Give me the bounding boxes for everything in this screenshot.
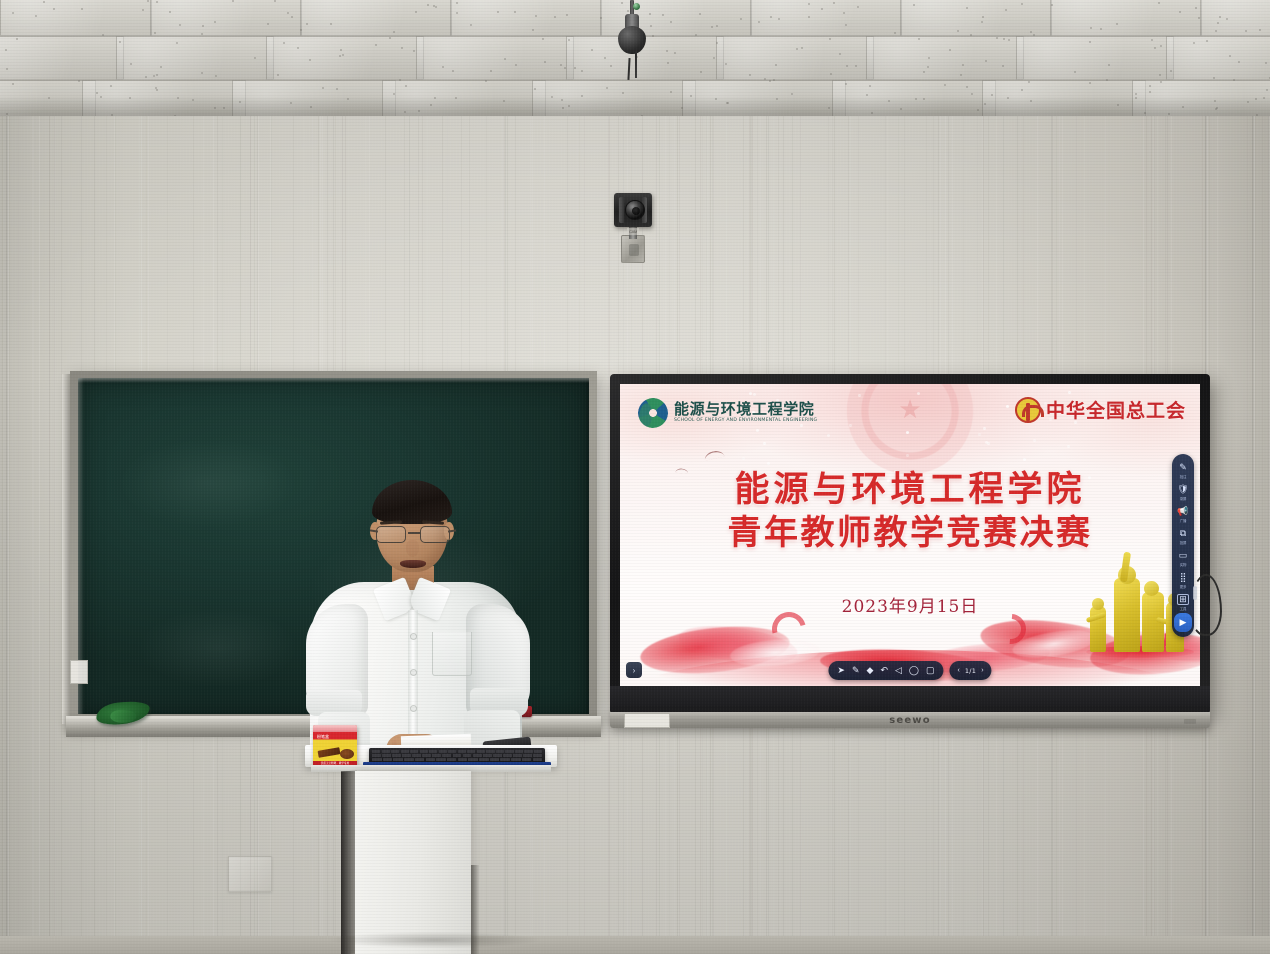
keyboard-key[interactable] bbox=[372, 754, 381, 757]
megaphone-icon: 📢 bbox=[1178, 506, 1189, 517]
ceiling-texture-speck bbox=[1266, 89, 1268, 91]
ceiling-texture-speck bbox=[300, 29, 302, 31]
ceiling-texture-speck bbox=[568, 39, 570, 41]
ceiling-texture-speck bbox=[339, 55, 341, 57]
watermark-speck bbox=[917, 392, 920, 395]
wall-grain-line bbox=[9, 116, 10, 954]
keyboard-key[interactable] bbox=[392, 754, 401, 757]
keyboard-key[interactable] bbox=[468, 758, 478, 761]
ceiling-texture-speck bbox=[1005, 9, 1007, 11]
keyboard-key[interactable] bbox=[503, 754, 512, 757]
slide-title-line-2: 青年教师教学竞赛决赛 bbox=[620, 514, 1200, 553]
ceiling-texture-speck bbox=[232, 0, 234, 2]
ceiling-texture-speck bbox=[214, 21, 216, 23]
ceiling-tile bbox=[1166, 36, 1270, 80]
ceiling-texture-speck bbox=[1170, 70, 1172, 72]
ceiling-texture-speck bbox=[504, 58, 506, 60]
redo-icon[interactable]: ◁ bbox=[895, 666, 902, 675]
wall-grain-line bbox=[4, 116, 5, 954]
ceiling-texture-speck bbox=[179, 24, 181, 26]
watermark-speck bbox=[767, 462, 770, 465]
display-indicator-light bbox=[1184, 719, 1196, 724]
wall-surveillance-camera: CAM bbox=[610, 193, 656, 265]
keyboard-key[interactable] bbox=[505, 750, 513, 753]
side-toolbar-item-label: 批注 bbox=[1180, 474, 1186, 479]
ceiling-texture-speck bbox=[375, 44, 377, 46]
keyboard-key[interactable] bbox=[458, 758, 468, 761]
ceiling-tile bbox=[150, 0, 302, 36]
pen-tool-icon: ✎ bbox=[1178, 462, 1189, 473]
keyboard-key[interactable] bbox=[486, 750, 494, 753]
wall-grain-line bbox=[1268, 116, 1269, 954]
acftu-emblem-icon bbox=[1015, 397, 1041, 423]
ceiling-texture-speck bbox=[35, 15, 37, 17]
keyboard-key[interactable] bbox=[483, 754, 492, 757]
ceiling-texture-speck bbox=[1151, 39, 1153, 41]
ceiling-texture-speck bbox=[591, 49, 593, 51]
expand-panel-button[interactable]: › bbox=[626, 662, 642, 678]
cloud-shape-icon[interactable]: ▢ bbox=[926, 666, 935, 675]
camera-label: CAM bbox=[627, 228, 639, 235]
ceiling-texture-speck bbox=[309, 59, 311, 61]
ceiling-texture-speck bbox=[156, 1, 158, 3]
toolbox-icon: ⊞ bbox=[1177, 594, 1189, 605]
keyboard-key[interactable] bbox=[533, 758, 543, 761]
interactive-smart-display[interactable]: ★ 能源与环境工程学院 SCHOOL OF ENERGY AND ENVIRON… bbox=[610, 374, 1210, 714]
ceiling-texture-speck bbox=[1265, 62, 1267, 64]
wall-grain-line bbox=[39, 116, 40, 954]
floor-edge bbox=[0, 936, 1270, 954]
shield-icon: 🛡 bbox=[1178, 484, 1189, 495]
keyboard-key[interactable] bbox=[534, 750, 542, 753]
ceiling-tile bbox=[416, 36, 574, 80]
side-toolbar-item-apps-grid[interactable]: ⣿更多 bbox=[1173, 569, 1193, 591]
watermark-speck bbox=[756, 429, 759, 432]
keyboard-key[interactable] bbox=[412, 754, 421, 757]
keyboard-key[interactable] bbox=[453, 754, 462, 757]
watermark-speck bbox=[1033, 439, 1036, 442]
keyboard-key[interactable] bbox=[447, 758, 457, 761]
circle-shape-icon[interactable]: ◯ bbox=[909, 666, 919, 675]
side-toolbar-item-shield[interactable]: 🛡录屏 bbox=[1173, 481, 1193, 503]
ceiling-texture-speck bbox=[758, 21, 760, 23]
ceiling-texture-speck bbox=[119, 41, 121, 43]
keyboard-key[interactable] bbox=[524, 750, 532, 753]
keyboard-key[interactable] bbox=[426, 758, 436, 761]
ceiling-texture-speck bbox=[839, 53, 841, 55]
ceiling-tile bbox=[0, 36, 124, 80]
keyboard-key[interactable] bbox=[422, 754, 431, 757]
classroom-scene: CAM ★ bbox=[0, 0, 1270, 954]
ceiling-tile bbox=[266, 36, 424, 80]
ceiling-texture-speck bbox=[821, 8, 823, 10]
ceiling-texture-speck bbox=[201, 33, 203, 35]
page-indicator: 1/1 bbox=[965, 667, 976, 675]
keyboard-key[interactable] bbox=[477, 750, 485, 753]
school-logo: 能源与环境工程学院 SCHOOL OF ENERGY AND ENVIRONME… bbox=[638, 398, 817, 428]
slide-title-line-1: 能源与环境工程学院 bbox=[620, 470, 1200, 511]
ceiling-texture-speck bbox=[53, 8, 55, 10]
ceiling-texture-speck bbox=[1179, 11, 1181, 13]
cursor-select-icon[interactable]: ➤ bbox=[837, 666, 845, 675]
keyboard-key[interactable] bbox=[442, 754, 451, 757]
ceiling-tile bbox=[450, 0, 602, 36]
ceiling-texture-speck bbox=[442, 66, 444, 68]
watermark-speck bbox=[983, 427, 986, 430]
ceiling-texture-speck bbox=[81, 8, 83, 10]
ceiling-texture-speck bbox=[966, 86, 968, 88]
ceiling-texture-speck bbox=[791, 93, 793, 95]
ceiling-tile bbox=[750, 0, 902, 36]
keyboard-key[interactable] bbox=[513, 754, 522, 757]
keyboard-key[interactable] bbox=[372, 750, 380, 753]
ceiling-tile bbox=[0, 0, 152, 36]
watermark-speck bbox=[858, 394, 861, 397]
ceiling-texture-speck bbox=[110, 85, 112, 87]
ceiling-texture-speck bbox=[857, 6, 859, 8]
keyboard-key[interactable] bbox=[458, 750, 466, 753]
ceiling-texture-speck bbox=[202, 25, 204, 27]
wall-grain-line bbox=[1255, 116, 1256, 954]
wall-grain-line bbox=[33, 116, 34, 954]
ceiling-texture-speck bbox=[808, 3, 810, 5]
keyboard-key[interactable] bbox=[372, 758, 382, 761]
keyboard-key[interactable] bbox=[439, 750, 447, 753]
ceiling-texture-speck bbox=[322, 87, 324, 89]
ceiling-texture-speck bbox=[985, 60, 987, 62]
eraser-icon[interactable]: ◆ bbox=[867, 666, 874, 675]
ceiling-texture-speck bbox=[554, 16, 556, 18]
keyboard-key[interactable] bbox=[467, 750, 475, 753]
keyboard-key[interactable] bbox=[463, 754, 472, 757]
ceiling-texture-speck bbox=[843, 12, 845, 14]
ceiling-texture-speck bbox=[764, 78, 766, 80]
keyboard-key[interactable] bbox=[415, 758, 425, 761]
page-navigation[interactable]: ‹ 1/1 › bbox=[950, 661, 992, 680]
lecture-podium: 粉笔盒 优质无尘粉笔 · 教学专用 bbox=[305, 745, 557, 954]
ceiling-texture-speck bbox=[413, 50, 415, 52]
chalk-box: 粉笔盒 优质无尘粉笔 · 教学专用 bbox=[313, 725, 357, 767]
ceiling-texture-speck bbox=[1135, 93, 1137, 95]
ceiling-texture-speck bbox=[778, 18, 780, 20]
ceiling-texture-speck bbox=[1213, 77, 1215, 79]
swirl-globe-logo-icon bbox=[634, 394, 672, 432]
ceiling-tile bbox=[716, 36, 874, 80]
ceiling-tile bbox=[116, 36, 274, 80]
ceiling-texture-speck bbox=[1108, 64, 1110, 66]
ceiling-texture-speck bbox=[435, 6, 437, 8]
ceiling-texture-speck bbox=[1089, 82, 1091, 84]
side-toolbar-item-label: 工具 bbox=[1180, 606, 1186, 611]
ceiling-texture-speck bbox=[1198, 17, 1200, 19]
camera-lens-icon bbox=[625, 200, 645, 220]
ceiling-tile bbox=[866, 36, 1024, 80]
side-toolbar-item-screen-share[interactable]: ⧉投屏 bbox=[1173, 525, 1193, 547]
keyboard-key[interactable] bbox=[496, 750, 504, 753]
ceiling-texture-speck bbox=[1030, 31, 1032, 33]
watermark-speck bbox=[1006, 405, 1009, 408]
keyboard-key[interactable] bbox=[393, 758, 403, 761]
keyboard-key[interactable] bbox=[523, 754, 532, 757]
watermark-speck bbox=[1023, 458, 1026, 461]
acftu-logo-text: 中华全国总工会 bbox=[1046, 396, 1186, 423]
keyboard-key[interactable] bbox=[402, 754, 411, 757]
ceiling-texture-speck bbox=[560, 64, 562, 66]
wall-grain-line bbox=[1217, 116, 1218, 954]
podium-floor-shadow bbox=[330, 932, 540, 948]
ceiling-texture-speck bbox=[160, 66, 162, 68]
keyboard-key[interactable] bbox=[401, 750, 409, 753]
ceiling-texture-speck bbox=[855, 65, 857, 67]
ceiling-texture-speck bbox=[666, 50, 668, 52]
keyboard-key[interactable] bbox=[522, 758, 532, 761]
annotation-toolbar[interactable]: ➤✎◆↶◁◯▢ ‹ 1/1 › bbox=[828, 661, 991, 680]
pen-icon[interactable]: ✎ bbox=[852, 666, 860, 675]
class-assistant-icon: ▶ bbox=[1178, 617, 1189, 628]
ceiling-texture-speck bbox=[830, 73, 832, 75]
side-toolbar-item-pen-tool[interactable]: ✎批注 bbox=[1173, 459, 1193, 481]
watermark-speck bbox=[827, 434, 830, 437]
ceiling-texture-speck bbox=[515, 64, 517, 66]
keyboard-key[interactable] bbox=[500, 758, 510, 761]
school-logo-name-cn: 能源与环境工程学院 bbox=[674, 402, 817, 417]
display-brand-label: seewo bbox=[889, 715, 931, 726]
side-toolbar-item-label: 实物 bbox=[1180, 562, 1186, 567]
ceiling-texture-speck bbox=[1021, 3, 1023, 5]
prev-page-button[interactable]: ‹ bbox=[958, 667, 960, 674]
keyboard-key[interactable] bbox=[404, 758, 414, 761]
ceiling-texture-speck bbox=[215, 75, 217, 77]
keyboard-key[interactable] bbox=[410, 750, 418, 753]
ceiling-texture-speck bbox=[970, 34, 972, 36]
keyboard-row[interactable] bbox=[372, 750, 542, 753]
ceiling-texture-speck bbox=[485, 80, 487, 82]
watermark-speck bbox=[849, 424, 852, 427]
wall-grain-line bbox=[1247, 116, 1248, 954]
watermark-speck bbox=[987, 442, 990, 445]
keyboard-key[interactable] bbox=[432, 754, 441, 757]
ceiling-texture-speck bbox=[156, 74, 158, 76]
side-toolbar-item-label: 广播 bbox=[1180, 518, 1186, 523]
ceiling-texture-speck bbox=[102, 34, 104, 36]
keyboard-key[interactable] bbox=[382, 754, 391, 757]
side-toolbar-item-megaphone[interactable]: 📢广播 bbox=[1173, 503, 1193, 525]
apps-grid-icon: ⣿ bbox=[1178, 572, 1189, 583]
ceiling-texture-speck bbox=[725, 63, 727, 65]
ceiling-texture-speck bbox=[1245, 30, 1247, 32]
watermark-speck bbox=[753, 393, 756, 396]
keyboard-key[interactable] bbox=[533, 754, 542, 757]
keyboard-key[interactable] bbox=[382, 750, 390, 753]
presentation-slide: ★ 能源与环境工程学院 SCHOOL OF ENERGY AND ENVIRON… bbox=[620, 384, 1200, 686]
ceiling-texture-speck bbox=[43, 1, 45, 3]
keyboard-key[interactable] bbox=[420, 750, 428, 753]
display-screen[interactable]: ★ 能源与环境工程学院 SCHOOL OF ENERGY AND ENVIRON… bbox=[620, 384, 1200, 686]
keyboard-row[interactable] bbox=[372, 758, 542, 761]
wall-grain-line bbox=[18, 116, 19, 954]
presenter-hair bbox=[372, 480, 452, 524]
side-toolbar-item-window[interactable]: ▭实物 bbox=[1173, 547, 1193, 569]
ceiling-texture-speck bbox=[1021, 89, 1023, 91]
ceiling-texture-speck bbox=[201, 72, 203, 74]
ceiling-texture-speck bbox=[456, 12, 458, 14]
screen-share-icon: ⧉ bbox=[1178, 528, 1189, 539]
keyboard-key[interactable] bbox=[515, 750, 523, 753]
ceiling-tile bbox=[1050, 0, 1202, 36]
keyboard-key[interactable] bbox=[479, 758, 489, 761]
watermark-speck bbox=[749, 392, 752, 395]
watermark-speck bbox=[763, 442, 766, 445]
undo-icon[interactable]: ↶ bbox=[880, 666, 888, 675]
ceiling-texture-speck bbox=[1033, 34, 1035, 36]
watermark-speck bbox=[1068, 391, 1071, 394]
ceiling-texture-speck bbox=[769, 80, 771, 82]
chalk-box-brand: 粉笔盒 bbox=[317, 734, 329, 739]
ceiling-texture-speck bbox=[283, 42, 285, 44]
next-page-button[interactable]: › bbox=[981, 667, 983, 674]
ceiling-texture-speck bbox=[581, 70, 583, 72]
ceiling-texture-speck bbox=[695, 34, 697, 36]
keyboard-key[interactable] bbox=[436, 758, 446, 761]
ceiling-texture-speck bbox=[1149, 85, 1151, 87]
ceiling-tile bbox=[300, 0, 452, 36]
wall-grain-line bbox=[49, 116, 50, 954]
side-toolbar-item-label: 更多 bbox=[1180, 584, 1186, 589]
watermark-speck bbox=[906, 431, 909, 434]
ceiling-texture-speck bbox=[1233, 79, 1235, 81]
ceiling-texture-speck bbox=[176, 42, 178, 44]
keyboard-key[interactable] bbox=[511, 758, 521, 761]
ceiling-tile bbox=[1016, 36, 1174, 80]
wall-grain-line bbox=[1262, 116, 1263, 954]
ceiling-texture-speck bbox=[340, 49, 342, 51]
ceiling-texture-speck bbox=[928, 57, 930, 59]
keyboard-key[interactable] bbox=[473, 754, 482, 757]
wall-grain-line bbox=[55, 116, 56, 954]
status-led-icon bbox=[633, 3, 640, 10]
ceiling-texture-speck bbox=[711, 26, 713, 28]
ceiling-texture-speck bbox=[330, 23, 332, 25]
keyboard-key[interactable] bbox=[429, 750, 437, 753]
keyboard-key[interactable] bbox=[448, 750, 456, 753]
school-logo-name-en: SCHOOL OF ENERGY AND ENVIRONMENTAL ENGIN… bbox=[674, 419, 817, 424]
wall-outlet-panel bbox=[228, 856, 272, 892]
display-spec-sticker bbox=[624, 713, 670, 728]
keyboard-key[interactable] bbox=[493, 754, 502, 757]
ceiling-texture-speck bbox=[1051, 4, 1053, 6]
ceiling-texture-speck bbox=[393, 31, 395, 33]
slide-title: 能源与环境工程学院 青年教师教学竞赛决赛 bbox=[620, 470, 1200, 553]
ceiling-texture-speck bbox=[267, 23, 269, 25]
window-icon: ▭ bbox=[1178, 550, 1189, 561]
ceiling-texture-speck bbox=[470, 24, 472, 26]
keyboard-row[interactable] bbox=[372, 754, 542, 757]
watermark-speck bbox=[978, 433, 981, 436]
side-toolbar-item-label: 录屏 bbox=[1180, 496, 1186, 501]
watermark-speck bbox=[906, 454, 909, 457]
keyboard-key[interactable] bbox=[391, 750, 399, 753]
chalkboard-label-sticker bbox=[70, 660, 88, 684]
ceiling-texture-speck bbox=[156, 89, 158, 91]
ceiling-texture-speck bbox=[497, 11, 499, 13]
ceiling-texture-speck bbox=[1003, 38, 1005, 40]
ceiling-mounted-projector-camera bbox=[606, 0, 658, 62]
watermark-speck bbox=[1067, 445, 1070, 448]
ceiling-texture-speck bbox=[5, 49, 7, 51]
ceiling-texture-speck bbox=[415, 11, 417, 13]
ceiling-texture-speck bbox=[700, 71, 702, 73]
side-toolbar-item-label: 投屏 bbox=[1180, 540, 1186, 545]
ceiling-texture-speck bbox=[16, 38, 18, 40]
chalkboard-side-rail bbox=[62, 374, 70, 724]
shirt-pocket bbox=[432, 632, 472, 676]
keyboard-key[interactable] bbox=[383, 758, 393, 761]
display-bezel-chin bbox=[610, 686, 1210, 714]
keyboard-key[interactable] bbox=[490, 758, 500, 761]
acftu-logo: 中华全国总工会 bbox=[1015, 396, 1186, 423]
ceiling-texture-speck bbox=[829, 38, 831, 40]
ceiling-texture-speck bbox=[564, 67, 566, 69]
